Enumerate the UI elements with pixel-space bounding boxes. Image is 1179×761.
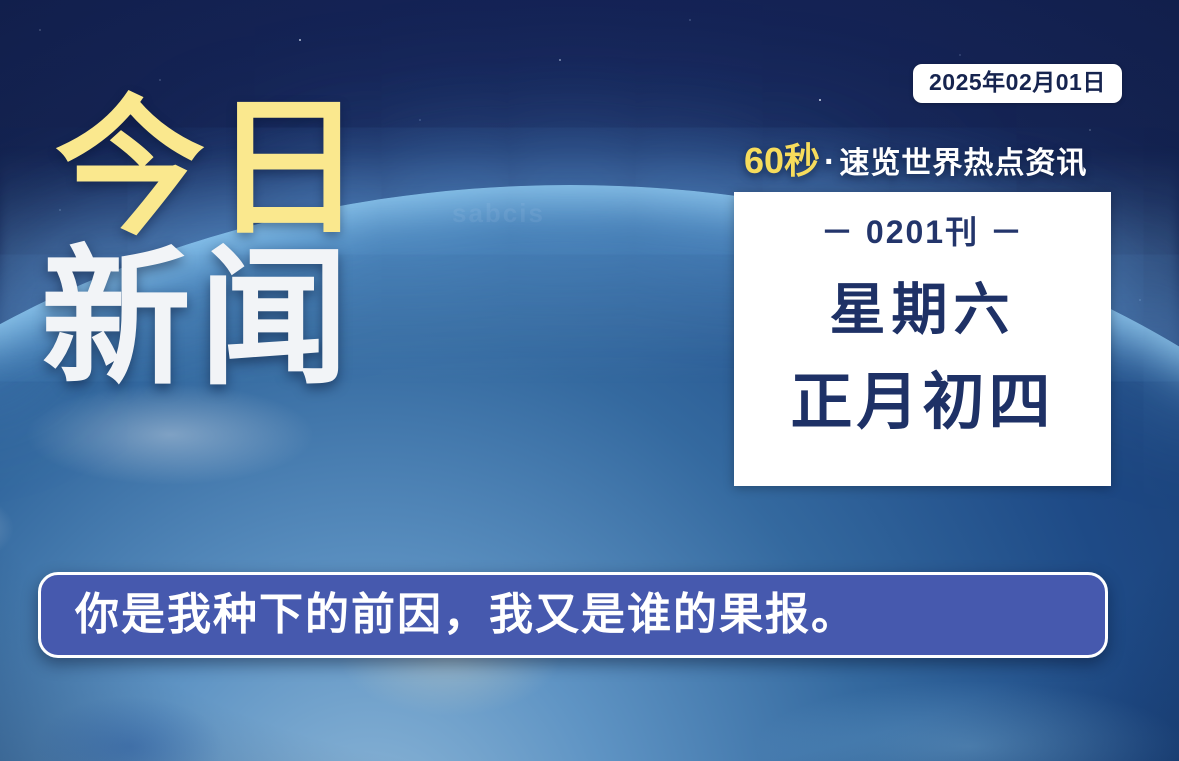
brand-title-line-1: 今日 [55,96,371,240]
lunar-date-label: 正月初四 [790,372,1054,434]
watermark-text: sabcis [452,198,545,229]
date-badge: 2025年02月01日 [913,64,1122,103]
tagline-separator: · [824,143,835,181]
tagline-text: 速览世界热点资讯 [839,147,1087,180]
brand-title: 今日 新闻 [55,96,371,390]
weekday-label: 星期六 [830,282,1016,338]
quote-text: 你是我种下的前因，我又是谁的果报。 [75,593,857,637]
tagline-seconds: 60秒 [744,140,820,181]
info-card: － 0201刊 － 星期六 正月初四 [734,192,1111,486]
brand-title-line-2: 新闻 [41,246,371,390]
news-poster: sabcis 2025年02月01日 今日 新闻 60秒·速览世界热点资讯 － … [0,0,1179,761]
quote-banner: 你是我种下的前因，我又是谁的果报。 [38,572,1108,658]
issue-number: － 0201刊 － [821,216,1024,248]
tagline: 60秒·速览世界热点资讯 [744,143,1087,179]
